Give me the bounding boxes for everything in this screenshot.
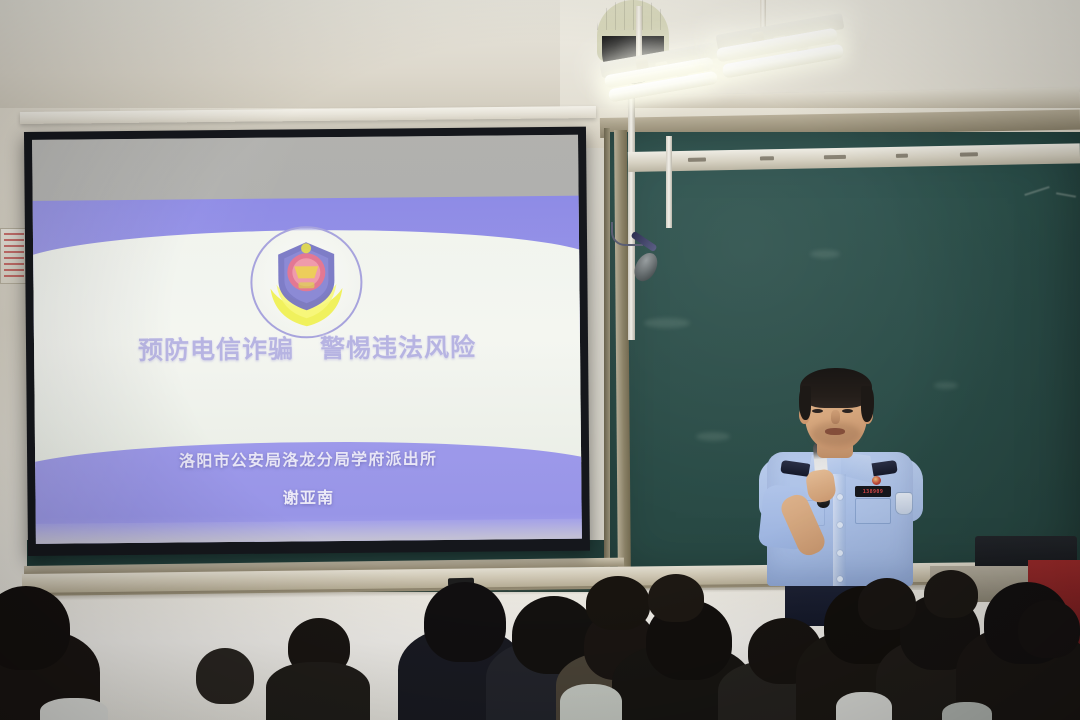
officer-mouth bbox=[825, 428, 845, 435]
wall-notice-sign-text bbox=[4, 233, 24, 279]
lamp-rear-stem bbox=[760, 0, 766, 28]
student-shirt bbox=[942, 702, 992, 720]
student-head bbox=[924, 570, 978, 618]
officer-eye-right bbox=[842, 409, 853, 413]
student-head bbox=[586, 576, 650, 630]
wall-notice-sign bbox=[0, 228, 28, 284]
student-shirt bbox=[836, 692, 892, 720]
student-shirt bbox=[560, 684, 622, 720]
officer-arm-patch bbox=[895, 492, 913, 515]
student-head bbox=[1018, 600, 1080, 658]
officer-hair-right bbox=[861, 386, 874, 422]
chinese-police-badge-icon bbox=[250, 226, 363, 339]
officer-id-badge: 138909 bbox=[855, 486, 891, 497]
slide-bottom-fade bbox=[36, 518, 582, 543]
officer-badge-number: 138909 bbox=[863, 489, 883, 495]
student-head bbox=[648, 574, 704, 622]
officer-eye-left bbox=[812, 409, 823, 413]
lamp-front-stem bbox=[636, 6, 642, 62]
projector-screen[interactable]: 预防电信诈骗 警惕违法风险 洛阳市公安局洛龙分局学府派出所 谢亚南 bbox=[24, 127, 590, 556]
hanging-mic-pole bbox=[666, 136, 672, 228]
audience-students bbox=[0, 556, 1080, 720]
student-head bbox=[196, 648, 254, 704]
student-head bbox=[424, 582, 506, 662]
chalkboard-left-edge bbox=[604, 128, 610, 588]
student-head bbox=[0, 586, 70, 670]
slide-title: 预防电信诈骗 警惕违法风险 bbox=[34, 327, 580, 368]
officer-hair-left bbox=[799, 386, 811, 420]
student-shoulders bbox=[266, 662, 370, 720]
slide-canvas: 预防电信诈骗 警惕违法风险 洛阳市公安局洛龙分局学府派出所 谢亚南 bbox=[32, 135, 582, 544]
officer-chest-pocket-right bbox=[855, 498, 891, 524]
student-head bbox=[858, 578, 916, 630]
student-shirt bbox=[40, 698, 108, 720]
camera-mount-pole bbox=[628, 70, 635, 340]
officer-nose bbox=[831, 410, 840, 424]
officer-chest-pin-icon bbox=[872, 476, 881, 485]
classroom-scene: 预防电信诈骗 警惕违法风险 洛阳市公安局洛龙分局学府派出所 谢亚南 ※ 1389… bbox=[0, 0, 1080, 720]
